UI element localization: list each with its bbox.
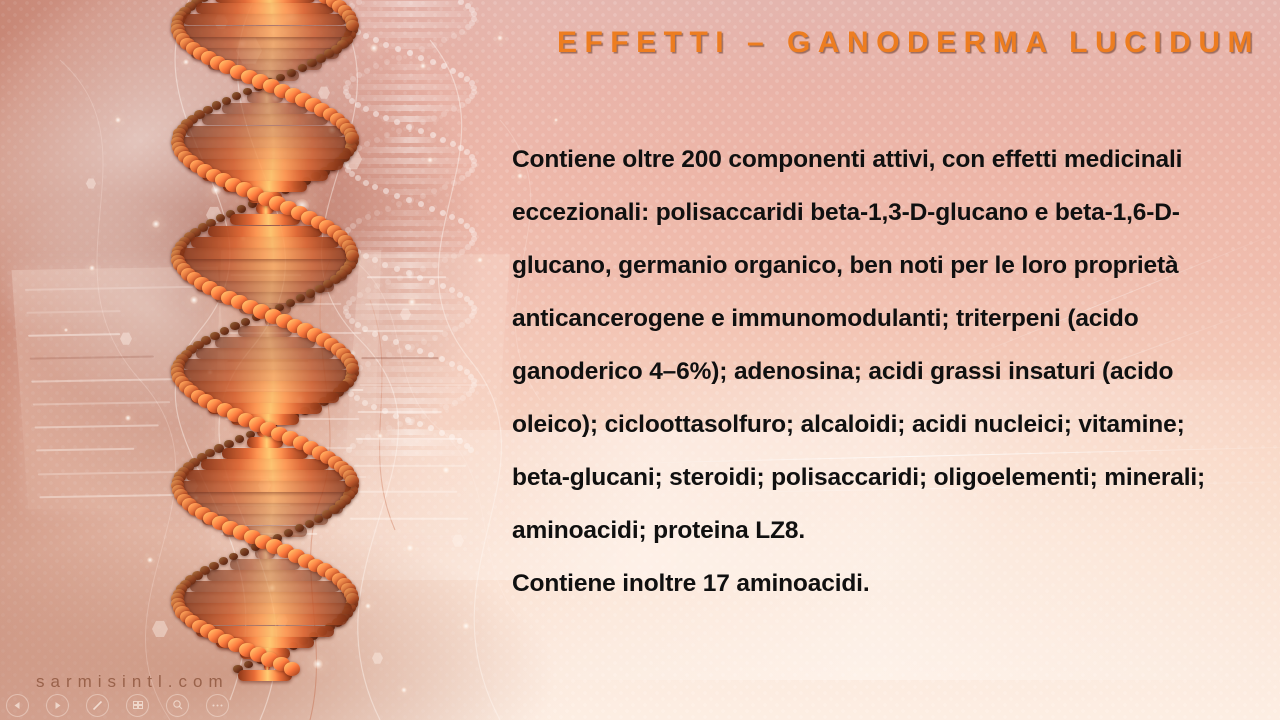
pen-tool-button[interactable]	[86, 694, 109, 717]
helix-rung	[180, 248, 349, 259]
helix-rung	[178, 603, 352, 614]
helix-rung	[178, 370, 353, 381]
previous-slide-button[interactable]	[6, 694, 29, 717]
helix-rung	[178, 259, 353, 270]
helix-rung	[180, 37, 349, 48]
hexagon-particle	[400, 308, 411, 320]
helix-strand-segment	[298, 64, 307, 72]
helix-strand-segment	[240, 548, 249, 556]
helix-strand-segment	[210, 332, 220, 340]
magnifier-icon	[172, 699, 184, 711]
helix-rung	[230, 214, 300, 225]
helix-strand-segment	[243, 88, 252, 96]
helix-rung	[186, 470, 343, 481]
helix-rung	[222, 448, 308, 459]
helix-strand-segment	[346, 363, 359, 374]
helix-strand-segment	[284, 662, 301, 676]
helix-rung	[196, 3, 334, 14]
helix-strand-segment	[345, 475, 358, 486]
helix-rung	[183, 14, 347, 25]
helix-rung	[181, 381, 350, 392]
helix-rung	[222, 103, 307, 114]
glow-dot	[89, 265, 95, 271]
body-paragraph: Contiene inoltre 17 aminoacidi.	[512, 557, 1242, 610]
glow-dot	[406, 544, 414, 552]
helix-strand-segment	[306, 289, 316, 297]
next-slide-button[interactable]	[46, 694, 69, 717]
helix-strand-segment	[322, 510, 332, 519]
hexagon-particle	[372, 652, 383, 664]
hexagon-particle	[318, 86, 330, 99]
helix-strand-segment	[346, 593, 359, 604]
helix-strand-segment	[230, 322, 239, 330]
helix-strand-segment	[346, 250, 359, 261]
helix-rung	[180, 592, 350, 603]
glow-dot	[477, 257, 483, 263]
glow-dot	[554, 118, 558, 122]
helix-rung	[178, 26, 353, 37]
glow-dot	[377, 433, 383, 439]
site-watermark: sarmisintl.com	[36, 672, 229, 692]
helix-rung	[208, 226, 322, 237]
glow-dot	[147, 557, 153, 563]
ellipsis-icon	[211, 703, 224, 708]
glow-dot	[313, 659, 323, 669]
helix-rung	[179, 148, 352, 159]
helix-strand-segment	[241, 318, 250, 326]
helix-strand-segment	[345, 132, 358, 143]
helix-strand-segment	[315, 285, 325, 293]
helix-rung	[179, 481, 352, 492]
helix-rung	[179, 137, 352, 148]
helix-strand-segment	[286, 299, 295, 307]
helix-rung	[201, 459, 329, 470]
helix-strand-segment	[212, 101, 222, 109]
helix-strand-segment	[209, 562, 219, 570]
helix-strand-segment	[222, 97, 231, 105]
hexagon-particle	[152, 620, 168, 638]
glow-dot	[462, 622, 470, 630]
glow-dot	[365, 603, 371, 609]
hexagon-particle	[120, 332, 132, 345]
all-slides-button[interactable]	[126, 694, 149, 717]
glow-dot	[401, 687, 407, 693]
helix-strand-segment	[346, 20, 359, 31]
presentation-controls	[6, 692, 229, 718]
helix-strand-segment	[224, 440, 233, 448]
pen-icon	[91, 699, 104, 712]
glow-dot	[408, 298, 416, 306]
glow-dot	[152, 220, 160, 228]
glow-dot	[190, 296, 198, 304]
zoom-in-button[interactable]	[166, 694, 189, 717]
helix-strand-segment	[305, 520, 315, 528]
helix-rung	[179, 492, 352, 503]
helix-rung	[202, 114, 329, 125]
slide-title: EFFETTI – GANODERMA LUCIDUM	[470, 26, 1260, 74]
triangle-left-icon	[13, 701, 22, 710]
helix-rung	[191, 237, 340, 248]
body-paragraph: Contiene oltre 200 componenti attivi, co…	[512, 133, 1242, 557]
helix-rung	[186, 126, 343, 137]
glow-dot	[125, 415, 131, 421]
helix-strand-segment	[287, 69, 296, 77]
slide-body-text: Contiene oltre 200 componenti attivi, co…	[512, 133, 1242, 610]
helix-strand-segment	[316, 54, 326, 62]
glow-dot	[427, 157, 433, 163]
glow-dot	[370, 44, 378, 52]
glow-dot	[442, 466, 450, 474]
glow-dot	[183, 59, 189, 65]
grid-icon	[132, 699, 144, 711]
triangle-right-icon	[53, 701, 62, 710]
presentation-slide: EFFETTI – GANODERMA LUCIDUM Contiene olt…	[0, 0, 1280, 720]
hexagon-particle	[452, 534, 464, 547]
helix-rung	[183, 359, 347, 370]
helix-rung	[215, 337, 316, 348]
more-options-button[interactable]	[206, 694, 229, 717]
helix-rung	[196, 348, 335, 359]
helix-rung	[207, 570, 322, 581]
helix-strand-segment	[237, 205, 246, 213]
glow-dot	[115, 117, 121, 123]
glow-dot	[64, 328, 68, 332]
glow-dot	[420, 63, 426, 69]
hexagon-particle	[86, 178, 96, 189]
helix-rung	[190, 581, 339, 592]
